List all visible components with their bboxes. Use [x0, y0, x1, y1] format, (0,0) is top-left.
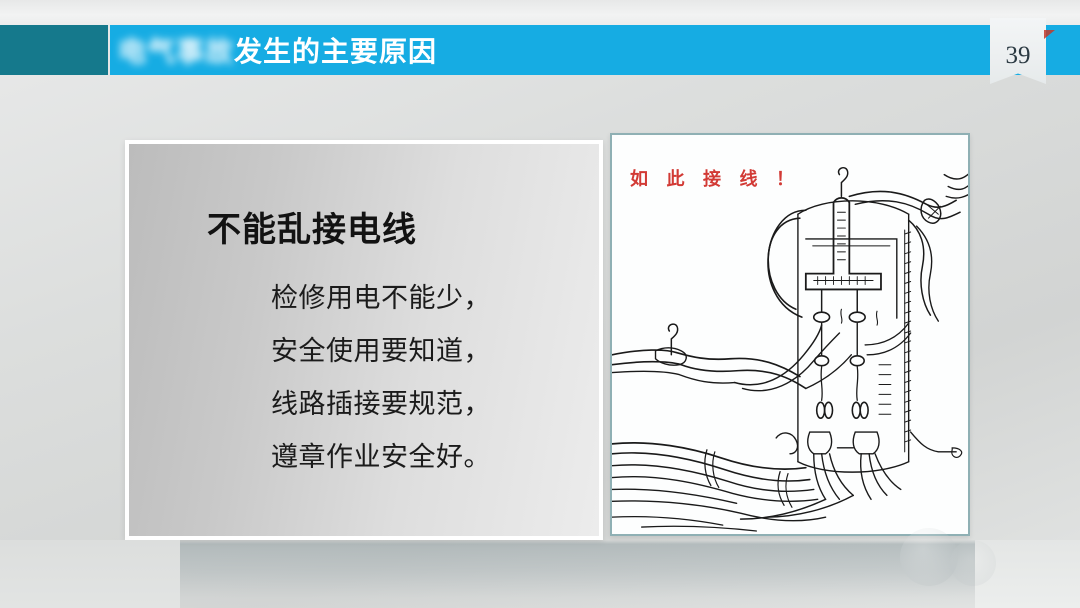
- content-line-4: 遵章作业安全好。: [271, 431, 491, 484]
- red-flag-icon: [1044, 30, 1055, 48]
- content-line-1: 检修用电不能少，: [271, 272, 491, 325]
- bottom-shelf-left-mask: [0, 540, 180, 608]
- illustration-card: 如 此 接 线 ！: [610, 133, 970, 536]
- messy-wiring-illustration-icon: [612, 135, 968, 534]
- content-line-2: 安全使用要知道，: [271, 325, 491, 378]
- page-number-label: 39: [1006, 43, 1031, 68]
- watermark-circle-icon: [900, 528, 958, 586]
- top-strip: [0, 0, 1080, 25]
- slide-title: 电气事故 发生的主要原因: [118, 26, 437, 74]
- slide-title-visible-part: 发生的主要原因: [234, 30, 437, 70]
- content-heading: 不能乱接电线: [207, 202, 417, 251]
- watermark-circle-secondary-icon: [950, 540, 996, 586]
- content-lines: 检修用电不能少， 安全使用要知道， 线路插接要规范， 遵章作业安全好。: [271, 272, 491, 484]
- content-line-3: 线路插接要规范，: [271, 378, 491, 431]
- illustration-caption: 如 此 接 线 ！: [630, 165, 801, 191]
- header-accent-block: [0, 25, 108, 75]
- slide-title-obscured-part: 电气事故: [118, 30, 234, 70]
- slide-canvas: 电气事故 发生的主要原因 39 不能乱接电线 检修用电不能少， 安全使用要知道，…: [0, 0, 1080, 608]
- content-card: 不能乱接电线 检修用电不能少， 安全使用要知道， 线路插接要规范， 遵章作业安全…: [125, 140, 603, 540]
